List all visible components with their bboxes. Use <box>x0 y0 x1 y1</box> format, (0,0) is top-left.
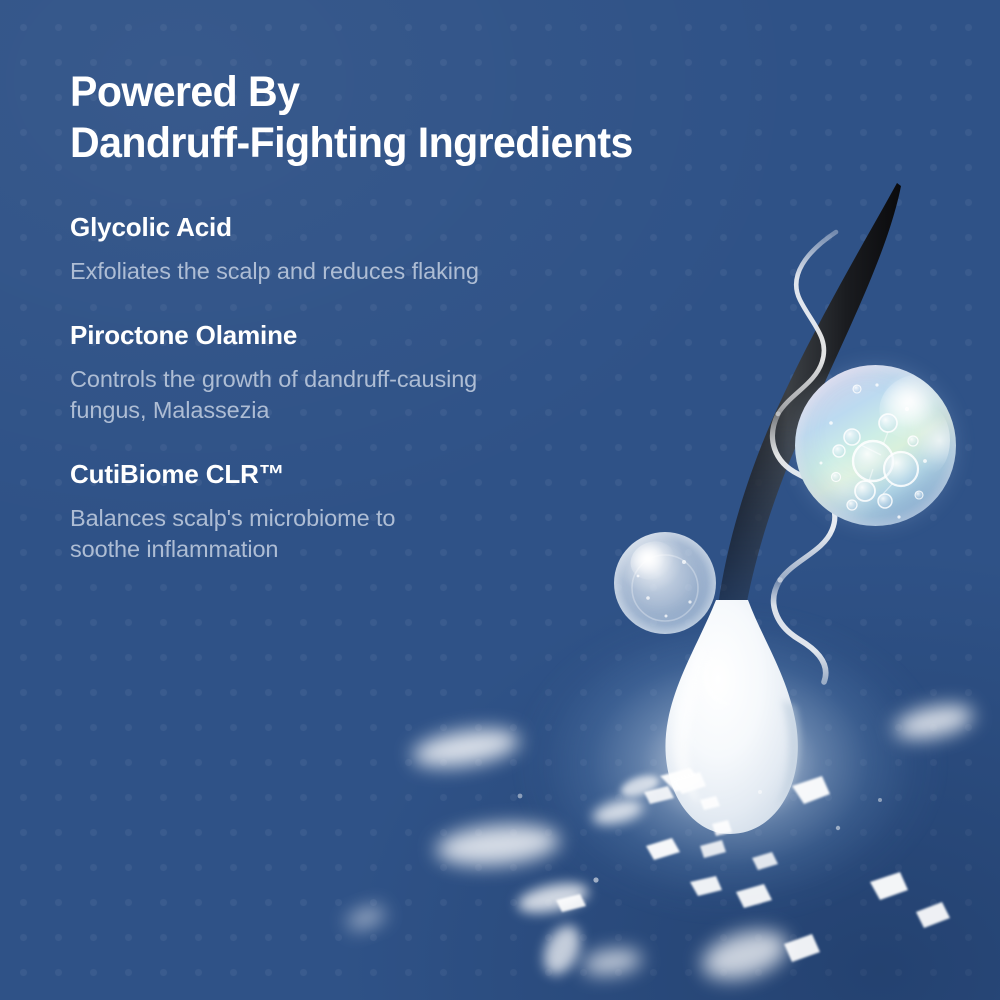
ingredient-name: CutiBiome CLR™ <box>70 459 650 490</box>
inner-bubble-cluster <box>795 365 956 526</box>
hair-follicle-bulb <box>665 600 800 834</box>
ingredient-name: Glycolic Acid <box>70 212 650 243</box>
ingredient-item-glycolic-acid: Glycolic Acid Exfoliates the scalp and r… <box>70 212 650 287</box>
dandruff-flakes <box>344 699 976 988</box>
hair-strand <box>718 183 901 612</box>
bubble-rim-highlight <box>908 407 950 475</box>
bubble-sheen <box>871 365 956 449</box>
ingredient-description: Exfoliates the scalp and reduces flaking <box>70 256 650 287</box>
page-title: Powered By Dandruff-Fighting Ingredients <box>70 67 796 170</box>
ingredient-item-cutibiome-clr: CutiBiome CLR™ Balances scalp's microbio… <box>70 459 650 565</box>
ingredient-name: Piroctone Olamine <box>70 320 650 351</box>
ingredient-list: Glycolic Acid Exfoliates the scalp and r… <box>70 212 650 565</box>
iridescent-bubble <box>795 365 956 526</box>
promo-graphic: Powered By Dandruff-Fighting Ingredients… <box>0 0 1000 1000</box>
ingredient-item-piroctone-olamine: Piroctone Olamine Controls the growth of… <box>70 320 650 426</box>
white-swirl-ribbon <box>706 232 836 704</box>
ingredient-description: Controls the growth of dandruff-causing … <box>70 364 650 427</box>
ingredient-description: Balances scalp's microbiome to soothe in… <box>70 503 650 566</box>
root-glow <box>470 570 990 990</box>
